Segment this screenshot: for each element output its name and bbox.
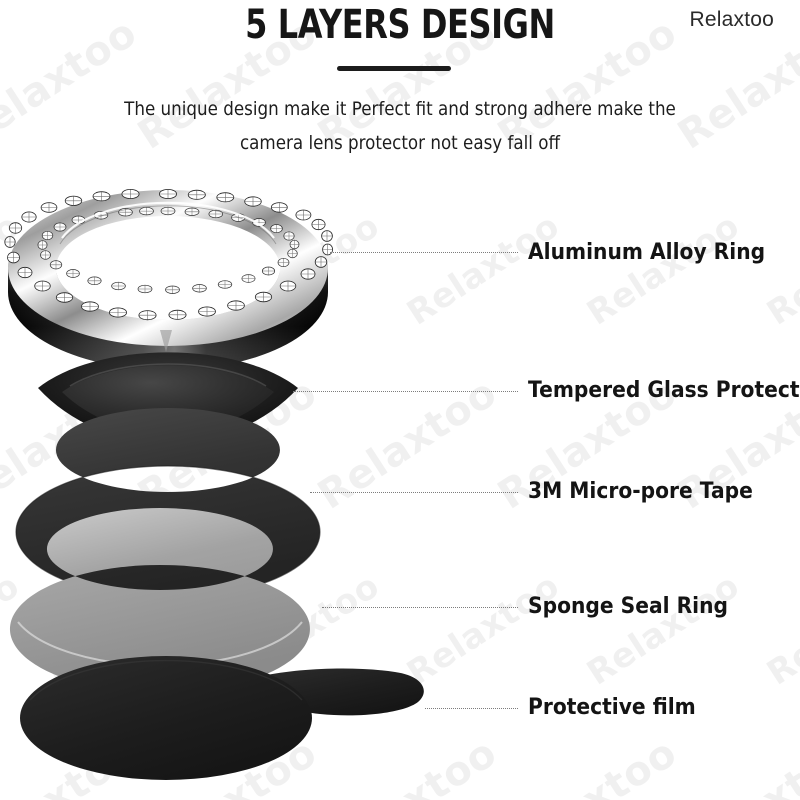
layer-3m-micro-pore-tape (16, 408, 320, 598)
layer-protective-film (20, 656, 424, 780)
watermark-text: Relaxtoo (670, 730, 800, 800)
leader-line-3m-micro-pore-tape (310, 492, 518, 494)
watermark-text: Relaxtoo (760, 566, 800, 694)
label-sponge-seal-ring: Sponge Seal Ring (528, 594, 728, 619)
label-aluminum-alloy-ring: Aluminum Alloy Ring (528, 240, 765, 265)
title-divider (337, 66, 451, 71)
page-subtitle: The unique design make it Perfect fit an… (101, 92, 699, 160)
watermark-text: Relaxtoo (580, 566, 747, 694)
page-title: 5 LAYERS DESIGN (80, 2, 720, 48)
leader-line-sponge-seal-ring (322, 607, 518, 609)
leader-line-tempered-glass-protector (293, 391, 518, 393)
watermark-text: Relaxtoo (580, 206, 747, 334)
brand-logo: Relaxtoo (690, 8, 774, 32)
label-3m-micro-pore-tape: 3M Micro-pore Tape (528, 479, 753, 504)
product-infographic: RelaxtooRelaxtooRelaxtooRelaxtooRelaxtoo… (0, 0, 800, 800)
layer-aluminum-alloy-ring (5, 189, 333, 370)
label-protective-film: Protective film (528, 695, 696, 720)
leader-line-aluminum-alloy-ring (330, 252, 518, 254)
leader-line-protective-film (425, 708, 518, 710)
label-tempered-glass-protector: Tempered Glass Protector (528, 378, 800, 403)
watermark-text: Relaxtoo (760, 206, 800, 334)
